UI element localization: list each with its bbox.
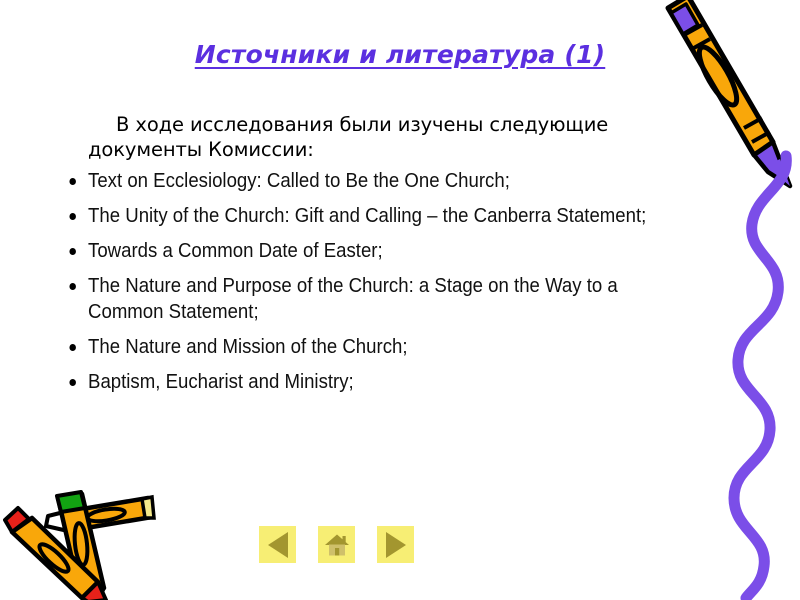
purple-squiggle-icon [726, 150, 800, 600]
list-item: Baptism, Eucharist and Ministry; [62, 369, 655, 395]
bullet-dot-icon [69, 379, 76, 386]
slide-canvas: Источники и литература (1) В ходе исслед… [0, 0, 800, 600]
home-button[interactable] [318, 526, 355, 563]
bullet-dot-icon [69, 283, 76, 290]
list-item: Towards a Common Date of Easter; [62, 238, 655, 264]
list-item: The Nature and Mission of the Church; [62, 334, 655, 360]
back-button[interactable] [259, 526, 296, 563]
intro-paragraph: В ходе исследования были изучены следующ… [88, 112, 708, 162]
document-list: Text on Ecclesiology: Called to Be the O… [62, 168, 722, 395]
list-item-label: Towards a Common Date of Easter; [88, 240, 383, 262]
home-icon [324, 533, 350, 557]
list-item: The Nature and Purpose of the Church: a … [62, 273, 655, 325]
bullet-dot-icon [69, 344, 76, 351]
page-title: Источники и литература (1) [0, 40, 800, 69]
list-item-label: Text on Ecclesiology: Called to Be the O… [88, 170, 510, 192]
list-item: Text on Ecclesiology: Called to Be the O… [62, 168, 655, 194]
bullet-dot-icon [69, 213, 76, 220]
bullet-dot-icon [69, 178, 76, 185]
list-item: The Unity of the Church: Gift and Callin… [62, 203, 655, 229]
list-item-label: Baptism, Eucharist and Ministry; [88, 371, 354, 393]
bullet-dot-icon [69, 248, 76, 255]
list-item-label: The Nature and Mission of the Church; [88, 336, 407, 358]
list-item-label: The Nature and Purpose of the Church: a … [88, 275, 618, 323]
page-title-text: Источники и литература (1) [195, 40, 606, 69]
list-item-label: The Unity of the Church: Gift and Callin… [88, 205, 646, 227]
content-body: В ходе исследования были изучены следующ… [62, 112, 722, 404]
back-triangle-icon [268, 532, 288, 558]
navigation-bar [259, 526, 414, 563]
forward-triangle-icon [386, 532, 406, 558]
forward-button[interactable] [377, 526, 414, 563]
crayons-bottom-left-icon [2, 470, 162, 600]
